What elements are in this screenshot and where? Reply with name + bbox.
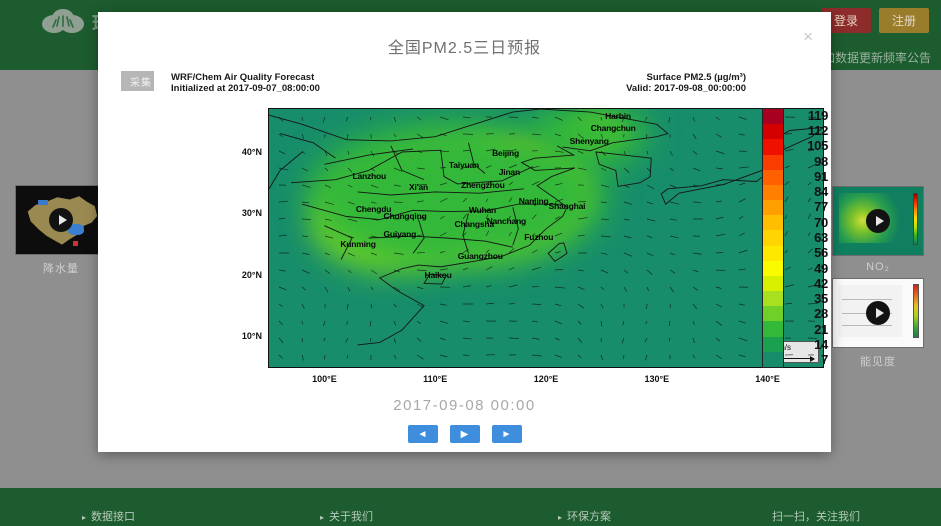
colorbar-tick-label: 105 <box>794 138 828 153</box>
colorbar-tick-label: 21 <box>794 322 828 337</box>
play-icon[interactable] <box>49 208 73 232</box>
colorbar-segment <box>763 306 783 321</box>
y-axis-tick-label: 40°N <box>222 147 262 157</box>
auth-buttons: 登录 注册 <box>821 8 929 33</box>
map-city-label: Haikou <box>425 270 452 280</box>
thumbnail-visibility-image[interactable] <box>832 278 924 348</box>
colorbar-tick-label: 42 <box>794 276 828 291</box>
y-axis-tick-label: 20°N <box>222 270 262 280</box>
footer-qr-text: 扫一扫，关注我们 <box>772 508 860 524</box>
colorbar-segment <box>763 246 783 261</box>
forecast-nav: ◄ ▶ ► <box>98 425 831 443</box>
map-city-label: Shenyang <box>570 136 609 146</box>
colorbar-segment <box>763 185 783 200</box>
x-axis-tick-label: 110°E <box>415 374 455 384</box>
map-city-label: Wuhan <box>469 205 496 215</box>
figure-header-right: Surface PM2.5 (µg/m³)Valid: 2017-09-08_0… <box>626 72 746 94</box>
colorbar-segment <box>763 200 783 215</box>
footer-link-about[interactable]: ▸关于我们 <box>320 508 373 524</box>
colorbar-segment <box>763 109 783 124</box>
play-icon[interactable] <box>866 301 890 325</box>
map-city-label: Shanghai <box>549 201 586 211</box>
thumbnail-rain-caption: 降水量 <box>15 260 107 276</box>
register-button[interactable]: 注册 <box>879 8 929 33</box>
rain-patch-north-icon <box>38 200 48 205</box>
notice-text: 加数据更新频率公告 <box>823 49 931 66</box>
prev-frame-button[interactable]: ◄ <box>408 425 438 443</box>
colorbar-tick-label: 84 <box>794 184 828 199</box>
colorbar-segment <box>763 124 783 139</box>
map-city-label: Lanzhou <box>353 171 387 181</box>
forecast-date-label: 2017-09-08 00:00 <box>98 397 831 414</box>
thumbnail-visibility[interactable]: 能见度 <box>832 278 924 369</box>
colorbar-tick-label: 98 <box>794 154 828 169</box>
play-frame-button[interactable]: ▶ <box>450 425 480 443</box>
map-city-label: Chongqing <box>384 211 427 221</box>
colorbar-segment <box>763 321 783 336</box>
pm25-colorbar <box>762 108 784 368</box>
colorbar-segment <box>763 215 783 230</box>
map-city-label: Xi'an <box>409 182 428 192</box>
map-city-label: Beijing <box>492 148 519 158</box>
chevron-right-icon: ▸ <box>320 513 324 522</box>
colorbar-segment <box>763 261 783 276</box>
x-axis-tick-label: 100°E <box>304 374 344 384</box>
colorbar-segment <box>763 276 783 291</box>
footer-link-api[interactable]: ▸数据接口 <box>82 508 135 524</box>
pm25-colorbar-labels: 119112105989184777063564942352821147 <box>788 104 828 372</box>
map-city-label: Harbin <box>605 111 631 121</box>
x-axis-tick-label: 130°E <box>637 374 677 384</box>
map-city-label: Kunming <box>340 239 375 249</box>
colorbar-segment <box>763 170 783 185</box>
colorbar-segment <box>763 352 783 367</box>
map-city-label: Taiyuan <box>449 160 479 170</box>
map-city-label: Guangzhou <box>458 251 503 261</box>
thumbnail-rain[interactable]: 降水量 <box>15 185 107 276</box>
footer-links: ▸数据接口 ▸关于我们 ▸环保方案 扫一扫，关注我们 <box>0 508 941 524</box>
no2-colorbar <box>913 193 918 245</box>
colorbar-tick-label: 14 <box>794 337 828 352</box>
cloud-hand-logo-icon <box>40 2 86 42</box>
modal-title: 全国PM2.5三日预报 <box>98 34 831 58</box>
close-icon[interactable]: × <box>799 26 817 47</box>
map-city-label: Jinan <box>499 167 520 177</box>
visibility-colorbar <box>913 284 919 338</box>
map-city-label: Changchun <box>591 123 636 133</box>
pm25-heatmap-plot[interactable]: 10 m/s WulumuqiHarbinChangchunShenyangBe… <box>268 108 824 368</box>
thumbnail-no2-image[interactable] <box>832 186 924 256</box>
colorbar-tick-label: 77 <box>794 199 828 214</box>
rain-patch-south-icon <box>73 241 78 246</box>
pm25-forecast-modal: 全国PM2.5三日预报 × 采集 WRF/Chem Air Quality Fo… <box>98 12 831 452</box>
colorbar-tick-label: 112 <box>794 123 828 138</box>
footer-link-solutions[interactable]: ▸环保方案 <box>558 508 611 524</box>
colorbar-tick-label: 35 <box>794 291 828 306</box>
colorbar-tick-label: 63 <box>794 230 828 245</box>
thumbnail-no2-caption: NO₂ <box>832 261 924 273</box>
x-axis-tick-label: 140°E <box>748 374 788 384</box>
colorbar-tick-label: 28 <box>794 306 828 321</box>
chevron-right-icon: ▸ <box>558 513 562 522</box>
colorbar-tick-label: 91 <box>794 169 828 184</box>
y-axis-tick-label: 30°N <box>222 208 262 218</box>
thumbnail-no2[interactable]: NO₂ <box>832 186 924 273</box>
colorbar-segment <box>763 139 783 154</box>
colorbar-tick-label: 70 <box>794 215 828 230</box>
map-city-label: Zhengzhou <box>461 180 505 190</box>
colorbar-tick-label: 49 <box>794 261 828 276</box>
x-axis-tick-label: 120°E <box>526 374 566 384</box>
play-icon[interactable] <box>866 209 890 233</box>
colorbar-tick-label: 119 <box>794 108 828 123</box>
colorbar-segment <box>763 155 783 170</box>
next-frame-button[interactable]: ► <box>492 425 522 443</box>
chevron-right-icon: ▸ <box>82 513 86 522</box>
thumbnail-visibility-caption: 能见度 <box>832 353 924 369</box>
forecast-figure: WRF/Chem Air Quality ForecastInitialized… <box>154 71 824 383</box>
colorbar-tick-label: 56 <box>794 245 828 260</box>
map-city-label: Fuzhou <box>524 232 553 242</box>
map-city-label: Guiyang <box>384 229 417 239</box>
colorbar-segment <box>763 291 783 306</box>
map-city-label: Nanjing <box>519 196 549 206</box>
thumbnail-rain-image[interactable] <box>15 185 107 255</box>
colorbar-segment <box>763 230 783 245</box>
y-axis-tick-label: 10°N <box>222 331 262 341</box>
figure-header-left: WRF/Chem Air Quality ForecastInitialized… <box>171 72 320 94</box>
map-city-label: Nanchang <box>487 216 527 226</box>
colorbar-segment <box>763 337 783 352</box>
colorbar-tick-label: 7 <box>794 352 828 367</box>
